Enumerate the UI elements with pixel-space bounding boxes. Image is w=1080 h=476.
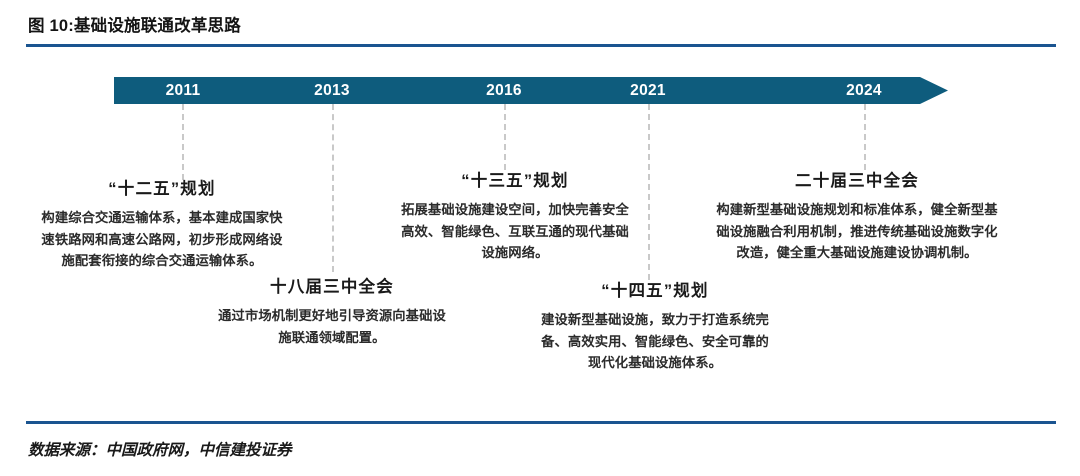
event-body: 通过市场机制更好地引导资源向基础设施联通领域配置。 [212, 305, 452, 348]
page-title: 图 10:基础设施联通改革思路 [28, 12, 241, 36]
timeline-year-2013: 2013 [292, 77, 372, 104]
connector-line-2021 [648, 104, 650, 280]
timeline-event-2011: “十二五”规划 构建综合交通运输体系，基本建成国家快速铁路网和高速公路网，初步形… [36, 178, 288, 272]
timeline-event-2024: 二十届三中全会 构建新型基础设施规划和标准体系，健全新型基础设施融合利用机制，推… [716, 170, 998, 264]
timeline-year-2021: 2021 [608, 77, 688, 104]
event-heading: “十三五”规划 [396, 170, 634, 192]
event-heading: 二十届三中全会 [716, 170, 998, 192]
timeline-year-2024: 2024 [824, 77, 904, 104]
footer-divider [26, 421, 1056, 424]
connector-line-2016 [504, 104, 506, 170]
timeline-event-2013: 十八届三中全会 通过市场机制更好地引导资源向基础设施联通领域配置。 [212, 276, 452, 348]
timeline-event-2021: “十四五”规划 建设新型基础设施，致力于打造系统完备、高效实用、智能绿色、安全可… [540, 280, 770, 374]
timeline-event-2016: “十三五”规划 拓展基础设施建设空间，加快完善安全高效、智能绿色、互联互通的现代… [396, 170, 634, 264]
event-body: 建设新型基础设施，致力于打造系统完备、高效实用、智能绿色、安全可靠的现代化基础设… [540, 309, 770, 374]
timeline-year-2011: 2011 [143, 77, 223, 104]
event-heading: “十四五”规划 [540, 280, 770, 302]
event-body: 拓展基础设施建设空间，加快完善安全高效、智能绿色、互联互通的现代基础设施网络。 [396, 199, 634, 264]
source-note: 数据来源：中国政府网，中信建投证券 [28, 438, 292, 460]
connector-line-2011 [182, 104, 184, 180]
event-body: 构建综合交通运输体系，基本建成国家快速铁路网和高速公路网，初步形成网络设施配套衔… [36, 207, 288, 272]
timeline-year-2016: 2016 [464, 77, 544, 104]
title-divider [26, 44, 1056, 47]
connector-line-2013 [332, 104, 334, 272]
event-heading: 十八届三中全会 [212, 276, 452, 298]
event-body: 构建新型基础设施规划和标准体系，健全新型基础设施融合利用机制，推进传统基础设施数… [716, 199, 998, 264]
event-heading: “十二五”规划 [36, 178, 288, 200]
connector-line-2024 [864, 104, 866, 170]
